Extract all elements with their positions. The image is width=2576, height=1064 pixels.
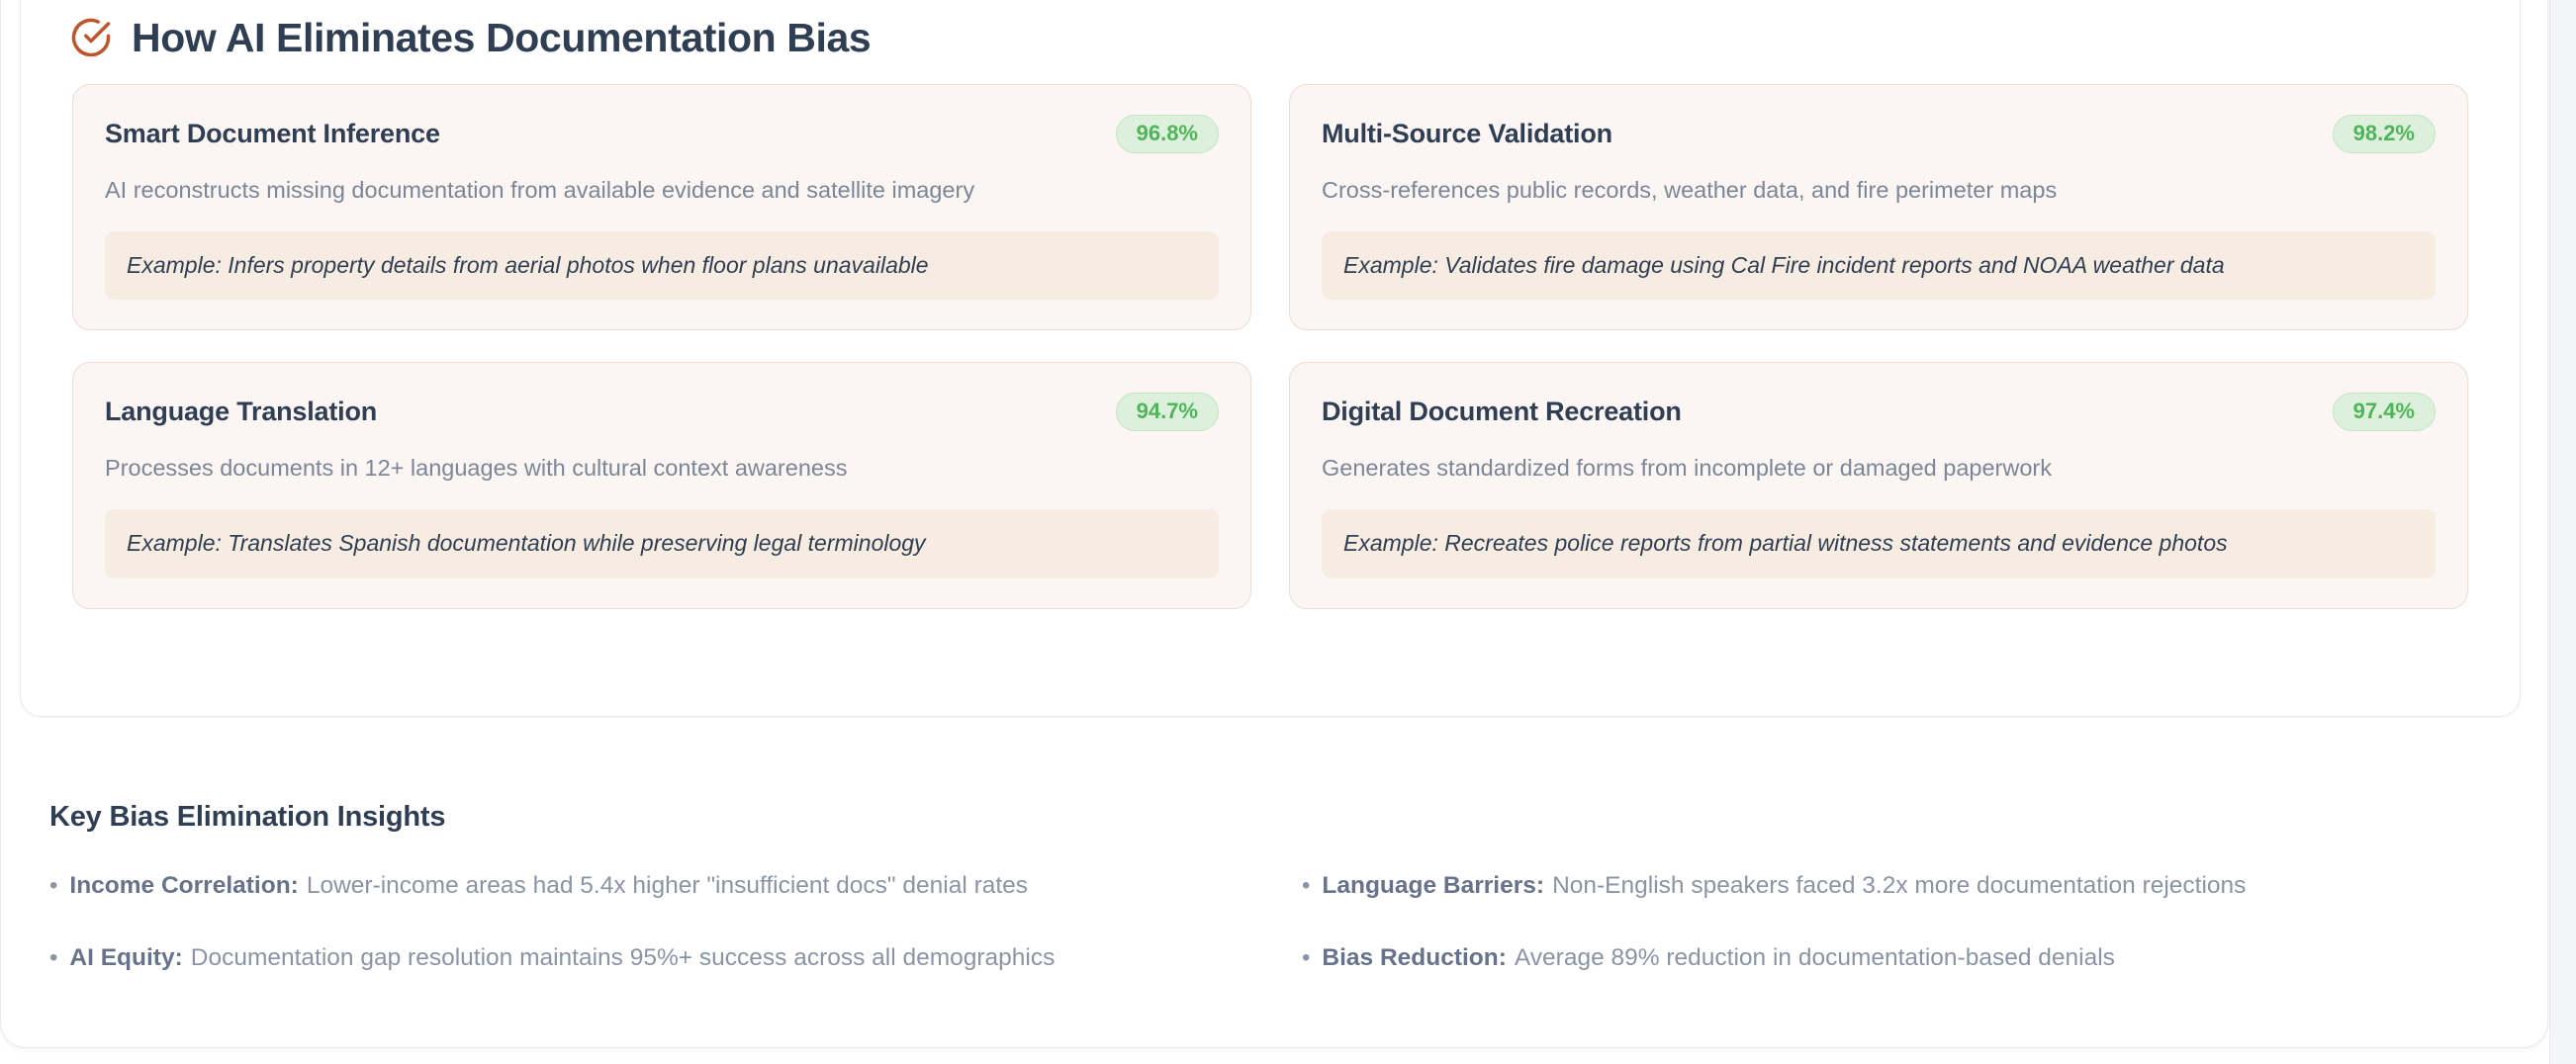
feature-card-title: Digital Document Recreation [1322,397,1682,427]
feature-card-description: AI reconstructs missing documentation fr… [105,175,1219,206]
insight-label: Language Barriers: [1322,872,1544,899]
feature-card-example: Example: Validates fire damage using Cal… [1322,231,2436,301]
feature-cards-grid: Smart Document Inference 96.8% AI recons… [21,66,2520,609]
feature-card-header: Smart Document Inference 96.8% [105,115,1219,153]
feature-card-title: Language Translation [105,397,377,427]
insights-title: Key Bias Elimination Insights [49,801,2503,834]
screenshot-viewport: How AI Eliminates Documentation Bias Sma… [0,0,2576,1064]
insight-label: AI Equity: [69,944,182,971]
feature-card-title: Multi-Source Validation [1322,119,1612,149]
insight-text: Lower-income areas had 5.4x higher "insu… [307,872,1028,899]
insight-text: Non-English speakers faced 3.2x more doc… [1552,872,2246,899]
ai-bias-section-card: How AI Eliminates Documentation Bias Sma… [20,0,2521,717]
insight-text: Documentation gap resolution maintains 9… [191,944,1056,971]
section-header: How AI Eliminates Documentation Bias [21,0,2520,66]
feature-card[interactable]: Language Translation 94.7% Processes doc… [72,362,1251,608]
feature-card-header: Multi-Source Validation 98.2% [1322,115,2436,153]
feature-card-description: Processes documents in 12+ languages wit… [105,453,1219,484]
insight-text: Average 89% reduction in documentation-b… [1515,944,2115,971]
feature-card-example: Example: Translates Spanish documentatio… [105,509,1219,578]
insight-item: • Bias Reduction:Average 89% reduction i… [1302,943,2503,974]
accuracy-badge: 97.4% [2333,393,2436,431]
accuracy-badge: 98.2% [2333,115,2436,153]
feature-card-description: Cross-references public records, weather… [1322,175,2436,206]
insight-label: Income Correlation: [69,872,298,899]
feature-card-description: Generates standardized forms from incomp… [1322,453,2436,484]
check-circle-icon [70,17,112,58]
key-insights-section: Key Bias Elimination Insights • Income C… [49,801,2503,973]
accuracy-badge: 94.7% [1116,393,1219,431]
insight-item: • Language Barriers:Non-English speakers… [1302,871,2503,902]
bullet-icon: • [1302,946,1310,970]
feature-card-example: Example: Recreates police reports from p… [1322,509,2436,578]
vertical-scrollbar[interactable] [2549,0,2576,1064]
feature-card[interactable]: Multi-Source Validation 98.2% Cross-refe… [1289,84,2468,330]
bullet-icon: • [49,874,57,898]
accuracy-badge: 96.8% [1116,115,1219,153]
bullet-icon: • [1302,874,1310,898]
feature-card-title: Smart Document Inference [105,119,440,149]
feature-card-example: Example: Infers property details from ae… [105,231,1219,301]
insight-item: • Income Correlation:Lower-income areas … [49,871,1250,902]
insights-grid: • Income Correlation:Lower-income areas … [49,871,2503,973]
feature-card-header: Language Translation 94.7% [105,393,1219,431]
insight-label: Bias Reduction: [1322,944,1507,971]
feature-card[interactable]: Smart Document Inference 96.8% AI recons… [72,84,1251,330]
page-title: How AI Eliminates Documentation Bias [132,18,871,58]
feature-card-header: Digital Document Recreation 97.4% [1322,393,2436,431]
insight-item: • AI Equity:Documentation gap resolution… [49,943,1250,974]
feature-card[interactable]: Digital Document Recreation 97.4% Genera… [1289,362,2468,608]
bullet-icon: • [49,946,57,970]
